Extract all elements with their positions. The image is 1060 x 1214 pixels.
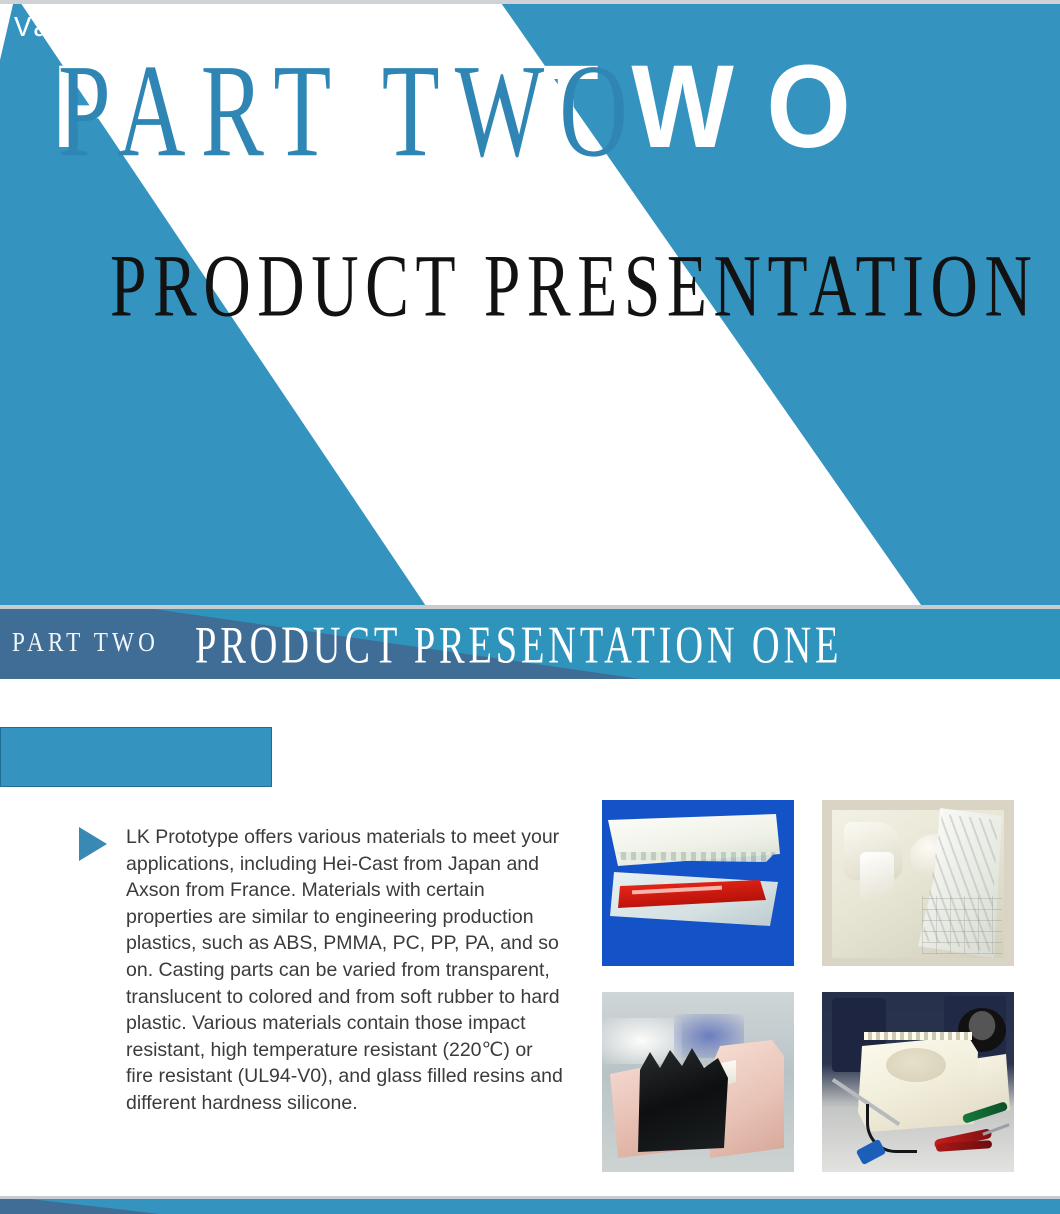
photo-black-cast-part-in-pink-silicone-mould	[602, 992, 794, 1172]
bottom-bar	[0, 1196, 1060, 1214]
bottom-bar-dark-wedge	[0, 1199, 200, 1214]
triangle-right-icon	[79, 827, 107, 861]
section-body-text: LK Prototype offers various materials to…	[126, 824, 564, 1117]
hero-section: PART TWO PART TWO PRODUCT PRESENTATION	[0, 0, 1060, 605]
band-top-line	[0, 605, 1060, 609]
band-part-label: PART TWO	[12, 627, 159, 658]
bottom-bar-top-line	[0, 1196, 1060, 1199]
hero-subtitle: PRODUCT PRESENTATION	[110, 242, 1038, 331]
slide: PART TWO PART TWO PRODUCT PRESENTATION P…	[0, 0, 1060, 1214]
section-title-box	[0, 727, 272, 787]
hero-top-edge-line	[0, 0, 1060, 4]
band-heading: PRODUCT PRESENTATION ONE	[195, 615, 842, 676]
photo-silicone-mould-with-red-cast-part	[602, 800, 794, 966]
photo-transparent-resin-mould-parts	[822, 800, 1014, 966]
section-header-band: PART TWO PRODUCT PRESENTATION ONE	[0, 605, 1060, 679]
photo-white-silicone-mould-block-on-bench	[822, 992, 1014, 1172]
